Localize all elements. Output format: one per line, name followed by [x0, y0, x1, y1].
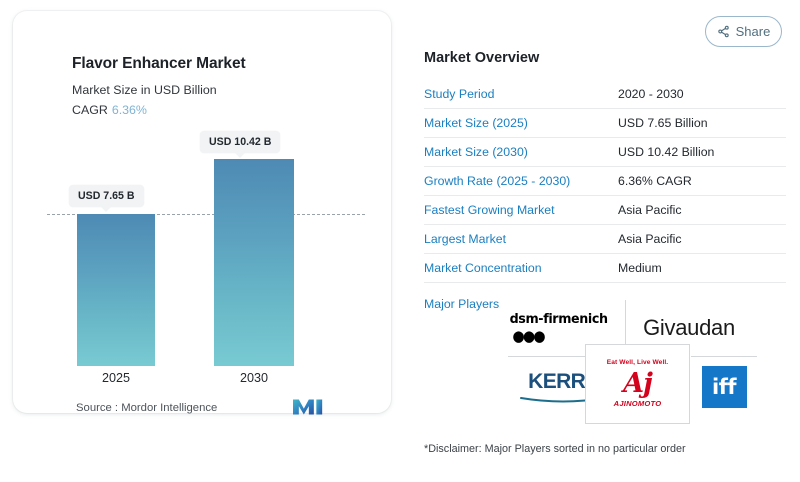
row-value: Asia Pacific — [618, 232, 682, 246]
chart-cagr-label: CAGR — [72, 103, 108, 117]
table-row: Study Period 2020 - 2030 — [424, 80, 786, 109]
row-key: Largest Market — [424, 232, 618, 246]
share-icon — [717, 25, 730, 38]
bar-2030[interactable] — [214, 159, 294, 366]
logo-dsm-text: dsm-firmenich — [510, 311, 608, 327]
chart-title: Flavor Enhancer Market — [72, 55, 246, 73]
table-row: Market Concentration Medium — [424, 254, 786, 283]
row-value: 2020 - 2030 — [618, 87, 684, 101]
disclaimer-text: *Disclaimer: Major Players sorted in no … — [424, 443, 686, 455]
row-value: USD 7.65 Billion — [618, 116, 708, 130]
chart-source: Source : Mordor Intelligence — [76, 402, 217, 414]
share-button[interactable]: Share — [705, 16, 782, 47]
table-row: Market Size (2030) USD 10.42 Billion — [424, 138, 786, 167]
row-value: Medium — [618, 261, 662, 275]
logo-iff-text: iff — [712, 375, 736, 399]
share-label: Share — [736, 24, 771, 39]
page-root: Share Flavor Enhancer Market Market Size… — [0, 0, 800, 482]
bar-2025[interactable] — [77, 214, 155, 366]
row-key: Market Size (2030) — [424, 145, 618, 159]
row-key: Growth Rate (2025 - 2030) — [424, 174, 618, 188]
bar-value-label-2025: USD 7.65 B — [69, 185, 144, 207]
bar-value-label-2030: USD 10.42 B — [200, 131, 280, 153]
row-value: USD 10.42 Billion — [618, 145, 714, 159]
table-row: Largest Market Asia Pacific — [424, 225, 786, 254]
logo-iff: iff — [691, 356, 757, 416]
mordor-intelligence-logo — [291, 397, 325, 417]
logo-ajinomoto: Eat Well, Live Well. Aj AJINOMOTO — [585, 344, 690, 424]
table-row: Market Size (2025) USD 7.65 Billion — [424, 109, 786, 138]
row-key: Study Period — [424, 87, 618, 101]
bar-chart-plot: USD 7.65 B USD 10.42 B 2025 2030 — [39, 121, 375, 366]
row-key: Market Concentration — [424, 261, 618, 275]
logo-ajinomoto-tagline: Eat Well, Live Well. — [607, 360, 669, 367]
major-players-logos: dsm-firmenich●●● Givaudan KERRY Eat Well… — [506, 300, 751, 424]
chart-subtitle: Market Size in USD Billion — [72, 83, 217, 97]
row-value: 6.36% CAGR — [618, 174, 692, 188]
x-axis-tick-2025: 2025 — [77, 371, 155, 385]
x-axis-tick-2030: 2030 — [214, 371, 294, 385]
market-overview-title: Market Overview — [424, 50, 786, 66]
logo-givaudan-text: Givaudan — [643, 315, 735, 341]
row-value: Asia Pacific — [618, 203, 682, 217]
chart-card: Flavor Enhancer Market Market Size in US… — [13, 11, 391, 413]
logo-ajinomoto-mark: Aj — [607, 370, 669, 397]
logo-ajinomoto-text: AJINOMOTO — [607, 400, 669, 408]
table-row: Growth Rate (2025 - 2030) 6.36% CAGR — [424, 167, 786, 196]
row-key: Fastest Growing Market — [424, 203, 618, 217]
dsm-dots-icon: ●●● — [512, 327, 543, 345]
market-overview-panel: Market Overview Study Period 2020 - 2030… — [424, 50, 786, 311]
chart-cagr: CAGR6.36% — [72, 103, 147, 117]
chart-cagr-value: 6.36% — [112, 103, 147, 117]
row-key: Market Size (2025) — [424, 116, 618, 130]
table-row: Fastest Growing Market Asia Pacific — [424, 196, 786, 225]
